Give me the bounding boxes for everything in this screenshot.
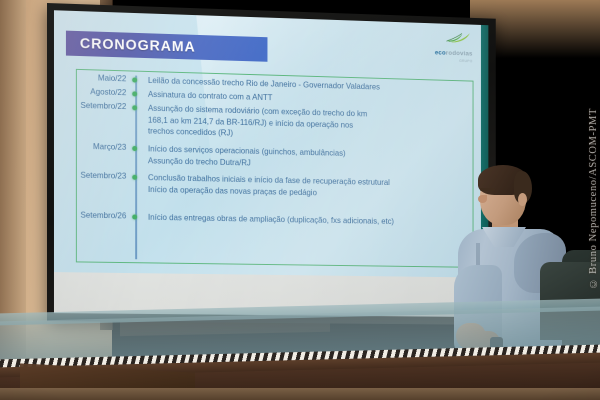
ecorodovias-logo: ecorodovias GRUPO (405, 30, 472, 57)
presenter-brow (480, 188, 495, 191)
slide-title: CRONOGRAMA (66, 35, 196, 55)
timeline-date: Setembro/26 (54, 210, 135, 222)
timeline-date: Maio/22 (54, 72, 135, 85)
timeline-marker-icon (132, 105, 137, 110)
slide-title-bar: CRONOGRAMA (66, 31, 268, 62)
timeline-date: Março/23 (54, 141, 135, 153)
timeline-date: Agosto/22 (54, 86, 135, 99)
timeline-marker-icon (132, 145, 137, 150)
presentation-slide: CRONOGRAMA ecorodovias GRUPO Maio/22L (54, 10, 488, 277)
timeline-marker-icon (132, 77, 137, 82)
timeline-date: Setembro/22 (54, 100, 135, 113)
logo-word-secondary: rodovias (446, 50, 473, 58)
timeline-date: Setembro/23 (54, 170, 135, 182)
presenter-nose (478, 195, 487, 203)
photo-scene: CRONOGRAMA ecorodovias GRUPO Maio/22L (0, 0, 600, 400)
timeline-marker-icon (132, 214, 137, 219)
photo-credit-watermark: © Bruno Nepomuceno/ASCOM-PMT (588, 108, 599, 289)
presenter-ear (518, 193, 527, 206)
projection-screen: CRONOGRAMA ecorodovias GRUPO Maio/22L (47, 3, 496, 325)
timeline-marker-icon (132, 174, 137, 179)
logo-wordmark: ecorodovias GRUPO (435, 43, 473, 64)
logo-word-primary: eco (435, 49, 446, 56)
floor (0, 388, 600, 400)
leaf-icon (447, 31, 471, 42)
timeline-marker-icon (132, 91, 137, 96)
projection-surface: CRONOGRAMA ecorodovias GRUPO Maio/22L (54, 10, 488, 317)
